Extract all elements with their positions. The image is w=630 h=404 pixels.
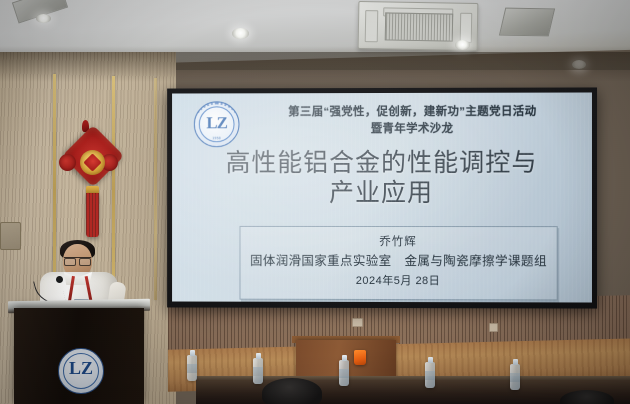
ac-slat-left	[365, 10, 379, 42]
podium-emblem-mark: LZ	[59, 358, 103, 379]
knot-fu-character	[83, 153, 101, 171]
slide-date: 2024年5月 28日	[244, 272, 552, 292]
slide-title-line-2: 产业应用	[192, 178, 572, 208]
water-bottle-5	[510, 364, 520, 390]
water-bottle-1	[187, 355, 197, 381]
podium-emblem-icon: LZ	[58, 348, 104, 394]
wall-outlet-1	[352, 318, 363, 327]
conference-photo-scene: LZ 1958 第三届“强党性，促创新，建新功”主题党日活动 暨青年学术沙龙 高…	[0, 0, 630, 404]
wall-top-shadow	[0, 52, 630, 82]
knot-center-medallion	[80, 150, 105, 175]
institute-logo-icon: LZ 1958	[194, 101, 240, 147]
knot-tassel	[86, 193, 99, 237]
gold-trim-3	[154, 78, 157, 300]
slide-organization: 固体润滑国家重点实验室 金属与陶瓷摩擦学课题组	[244, 251, 552, 272]
slide-header: 第三届“强党性，促创新，建新功”主题党日活动 暨青年学术沙龙	[247, 104, 577, 138]
projection-screen: LZ 1958 第三届“强党性，促创新，建新功”主题党日活动 暨青年学术沙龙 高…	[167, 87, 597, 308]
speaker-glasses	[64, 257, 91, 265]
ac-grille	[385, 13, 454, 42]
podium: LZ	[14, 308, 144, 404]
slide-surface: LZ 1958 第三届“强党性，促创新，建新功”主题党日活动 暨青年学术沙龙 高…	[172, 92, 592, 302]
slide-title-line-1: 高性能铝合金的性能调控与	[192, 148, 572, 178]
ceiling-downlight-2	[232, 28, 249, 39]
chinese-knot-decoration	[62, 128, 122, 238]
water-bottle-2	[253, 358, 263, 384]
slide-header-line-1: 第三届“强党性，促创新，建新功”主题党日活动	[247, 104, 577, 121]
logo-mark: LZ	[205, 113, 229, 133]
logo-year: 1958	[194, 136, 240, 140]
water-bottle-3	[339, 360, 349, 386]
ceiling-downlight-1	[36, 14, 51, 23]
slide-header-line-2: 暨青年学术沙龙	[247, 120, 577, 137]
slide-presenter-name: 乔竹辉	[244, 233, 552, 251]
wall-fixture-left	[0, 222, 21, 250]
water-bottle-4	[425, 362, 435, 388]
slide-presenter-box: 乔竹辉 固体润滑国家重点实验室 金属与陶瓷摩擦学课题组 2024年5月 28日	[239, 226, 557, 301]
knot-lobe-left	[59, 154, 76, 171]
ac-slat-right	[460, 13, 473, 43]
orange-item-on-side-table	[354, 350, 366, 365]
ceiling-vent-right	[499, 8, 555, 37]
microphone-head	[56, 276, 63, 283]
slide-title: 高性能铝合金的性能调控与 产业应用	[192, 148, 572, 208]
wall-outlet-2	[489, 323, 498, 332]
audience-head-front	[262, 378, 322, 404]
